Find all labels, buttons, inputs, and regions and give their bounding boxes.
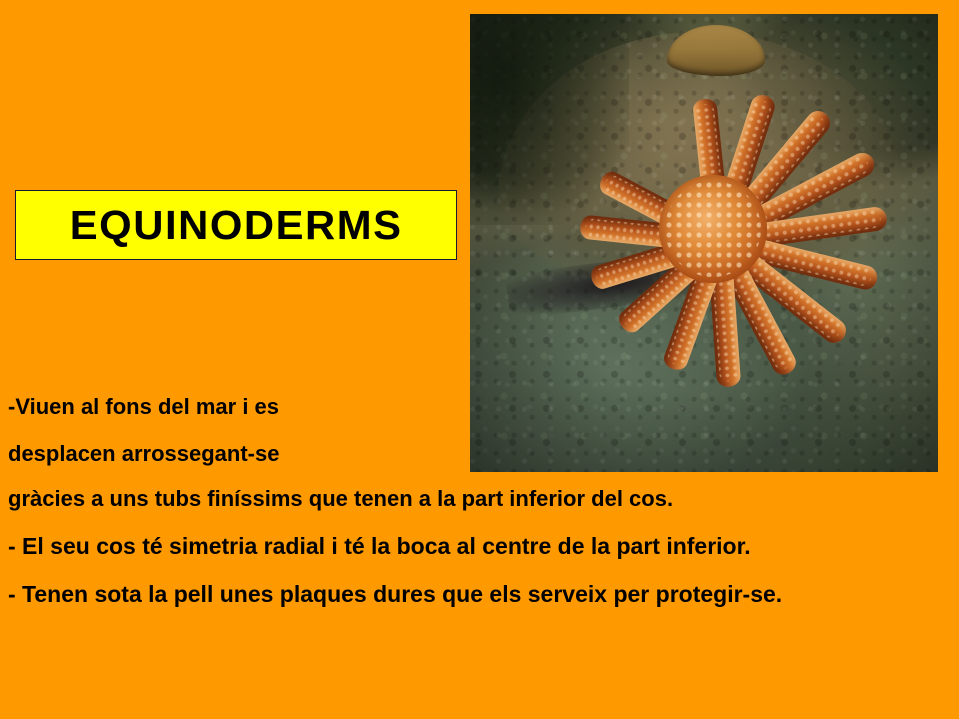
bullet-2: - El seu cos té simetria radial i té la … bbox=[8, 532, 938, 560]
page-title: EQUINODERMS bbox=[70, 205, 403, 246]
title-box: EQUINODERMS bbox=[15, 190, 457, 260]
bullet-1-line-3: gràcies a uns tubs finíssims que tenen a… bbox=[8, 484, 953, 514]
sea-star-central-disc bbox=[659, 175, 767, 283]
bullet-3: - Tenen sota la pell unes plaques dures … bbox=[8, 580, 938, 608]
slide: EQUINODERMS -Viuen al fo bbox=[0, 0, 959, 719]
body-text-block: -Viuen al fons del mar i es desplacen ar… bbox=[8, 383, 953, 608]
bullet-1-line-1: -Viuen al fons del mar i es bbox=[8, 383, 478, 430]
bullet-1-line-2: desplacen arrossegant-se bbox=[8, 430, 478, 477]
